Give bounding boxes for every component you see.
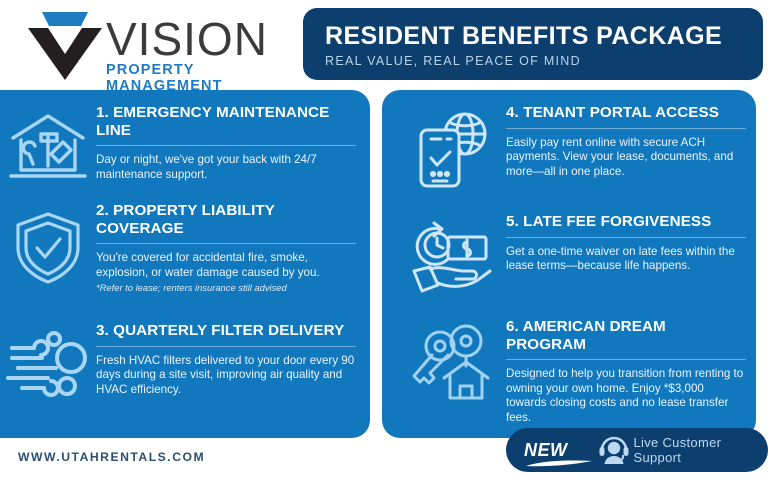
logo-wordmark: VISION PROPERTY MANAGEMENT — [106, 14, 294, 94]
benefit-description: Get a one-time waiver on late fees withi… — [506, 245, 746, 274]
title-divider — [506, 359, 746, 360]
page-title: RESIDENT BENEFITS PACKAGE — [325, 22, 763, 50]
benefit-item-3: 3. QUARTERLY FILTER DELIVERY Fresh HVAC … — [0, 322, 356, 400]
title-divider — [506, 128, 746, 129]
benefit-item-1: 1. EMERGENCY MAINTENANCE LINE Day or nig… — [0, 104, 356, 184]
phone-globe-icon — [396, 104, 506, 188]
benefit-body: 4. TENANT PORTAL ACCESS Easily pay rent … — [506, 104, 746, 188]
airflow-filter-icon — [0, 322, 96, 400]
live-support-badge[interactable]: NEW Live Customer Support — [506, 428, 768, 472]
benefit-body: 1. EMERGENCY MAINTENANCE LINE Day or nig… — [96, 104, 356, 184]
hand-clock-money-icon — [396, 213, 506, 295]
new-label: NEW — [524, 440, 568, 460]
benefits-panel-left: 1. EMERGENCY MAINTENANCE LINE Day or nig… — [0, 90, 370, 438]
benefit-title: 4. TENANT PORTAL ACCESS — [506, 104, 746, 122]
new-label-wrap: NEW — [524, 440, 594, 461]
swoosh-underline-icon — [524, 459, 594, 468]
title-divider — [96, 145, 356, 146]
live-support-label: Live Customer Support — [634, 435, 768, 465]
benefit-body: 3. QUARTERLY FILTER DELIVERY Fresh HVAC … — [96, 322, 356, 400]
benefit-description: Fresh HVAC filters delivered to your doo… — [96, 354, 356, 398]
benefit-title: 6. AMERICAN DREAM PROGRAM — [506, 318, 746, 353]
benefit-title: 2. PROPERTY LIABILITY COVERAGE — [96, 202, 356, 237]
benefit-item-4: 4. TENANT PORTAL ACCESS Easily pay rent … — [396, 104, 746, 188]
benefit-item-2: 2. PROPERTY LIABILITY COVERAGE You're co… — [0, 202, 356, 294]
title-divider — [506, 237, 746, 238]
title-divider — [96, 243, 356, 244]
benefit-title: 3. QUARTERLY FILTER DELIVERY — [96, 322, 356, 340]
website-url[interactable]: WWW.UTAHRENTALS.COM — [18, 450, 205, 464]
benefit-description: Easily pay rent online with secure ACH p… — [506, 136, 746, 180]
benefit-title: 5. LATE FEE FORGIVENESS — [506, 213, 746, 231]
benefit-description: Day or night, we've got your back with 2… — [96, 153, 356, 182]
benefit-body: 5. LATE FEE FORGIVENESS Get a one-time w… — [506, 213, 746, 295]
infographic-canvas: VISION PROPERTY MANAGEMENT RESIDENT BENE… — [0, 0, 776, 478]
benefit-body: 2. PROPERTY LIABILITY COVERAGE You're co… — [96, 202, 356, 294]
keys-house-icon — [396, 318, 506, 425]
title-divider — [96, 346, 356, 347]
benefit-item-6: 6. AMERICAN DREAM PROGRAM Designed to he… — [396, 318, 746, 425]
vision-v-mark-icon — [26, 10, 104, 82]
logo-brand: VISION — [106, 14, 294, 64]
benefits-panel-right: 4. TENANT PORTAL ACCESS Easily pay rent … — [382, 90, 756, 438]
benefit-body: 6. AMERICAN DREAM PROGRAM Designed to he… — [506, 318, 746, 425]
page-subtitle: REAL VALUE, REAL PEACE OF MIND — [325, 54, 763, 68]
benefit-description: Designed to help you transition from ren… — [506, 367, 746, 425]
benefit-title: 1. EMERGENCY MAINTENANCE LINE — [96, 104, 356, 139]
house-tools-icon — [0, 104, 96, 184]
headset-support-icon — [594, 433, 634, 467]
header-banner: RESIDENT BENEFITS PACKAGE REAL VALUE, RE… — [303, 8, 763, 80]
company-logo: VISION PROPERTY MANAGEMENT — [14, 8, 294, 86]
benefit-description: You're covered for accidental fire, smok… — [96, 251, 356, 280]
benefit-footnote: *Refer to lease; renters insurance still… — [96, 282, 356, 294]
benefit-item-5: 5. LATE FEE FORGIVENESS Get a one-time w… — [396, 213, 746, 295]
shield-check-icon — [0, 202, 96, 294]
